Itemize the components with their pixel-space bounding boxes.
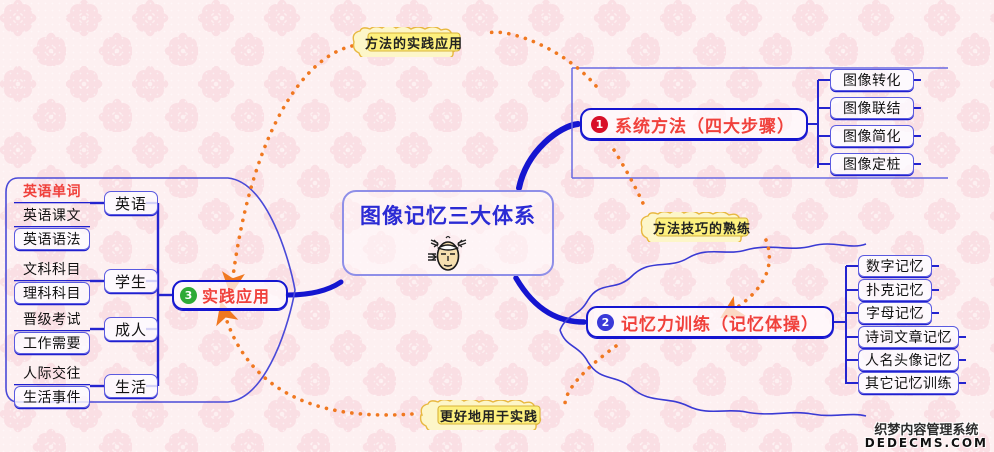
mindmap-canvas: 图像记忆三大体系 1 系统方法（四大步骤） 图像转化 图像联结 bbox=[0, 0, 994, 452]
branch-3-label: 实践应用 bbox=[202, 283, 270, 307]
watermark-line-1: 织梦内容管理系统 bbox=[865, 424, 988, 438]
branch-1-badge: 1 bbox=[591, 116, 608, 133]
leaf-node[interactable]: 英语单词 bbox=[14, 180, 90, 202]
leaf-node[interactable]: 人际交往 bbox=[14, 362, 90, 384]
leaf-node[interactable]: 文科科目 bbox=[14, 258, 90, 280]
watermark-line-2: DEDECMS.COM bbox=[865, 437, 988, 450]
branch-3-node[interactable]: 3 实践应用 bbox=[172, 280, 288, 310]
branch-1-label: 系统方法（四大步骤） bbox=[615, 112, 795, 137]
leaf-node[interactable]: 图像转化 bbox=[830, 69, 914, 91]
branch-2-label: 记忆力训练（记忆体操） bbox=[621, 310, 819, 335]
leaf-node[interactable]: 晋级考试 bbox=[14, 308, 90, 330]
leaf-node[interactable]: 数字记忆 bbox=[858, 255, 932, 277]
leaf-node[interactable]: 字母记忆 bbox=[858, 302, 932, 324]
leaf-node[interactable]: 人名头像记忆 bbox=[858, 349, 959, 371]
thinking-head-icon bbox=[424, 232, 472, 274]
category-node-student[interactable]: 学生 bbox=[104, 269, 158, 293]
leaf-node[interactable]: 扑克记忆 bbox=[858, 279, 932, 301]
branch-3-badge: 3 bbox=[180, 287, 197, 304]
branch-1-node[interactable]: 1 系统方法（四大步骤） bbox=[580, 108, 808, 140]
callout-top[interactable]: 方法的实践应用 bbox=[346, 27, 482, 57]
callout-middle[interactable]: 方法技巧的熟练 bbox=[634, 212, 770, 242]
page-title: 图像记忆三大体系 bbox=[344, 200, 552, 230]
branch-2-badge: 2 bbox=[597, 314, 614, 331]
category-node-english[interactable]: 英语 bbox=[104, 191, 158, 215]
callout-label: 方法的实践应用 bbox=[346, 27, 482, 57]
leaf-node[interactable]: 诗词文章记忆 bbox=[858, 326, 959, 348]
root-node[interactable]: 图像记忆三大体系 bbox=[342, 190, 554, 276]
leaf-node[interactable]: 图像联结 bbox=[830, 97, 914, 119]
callout-label: 更好地用于实践 bbox=[414, 400, 564, 430]
leaf-node[interactable]: 图像简化 bbox=[830, 125, 914, 147]
leaf-node[interactable]: 英语课文 bbox=[14, 204, 90, 226]
branch-2-node[interactable]: 2 记忆力训练（记忆体操） bbox=[586, 306, 834, 338]
leaf-node[interactable]: 其它记忆训练 bbox=[858, 372, 959, 394]
leaf-node[interactable]: 图像定桩 bbox=[830, 153, 914, 175]
leaf-node[interactable]: 理科科目 bbox=[14, 282, 90, 304]
watermark: 织梦内容管理系统 DEDECMS.COM bbox=[865, 424, 988, 450]
callout-bottom[interactable]: 更好地用于实践 bbox=[414, 400, 564, 430]
category-node-life[interactable]: 生活 bbox=[104, 374, 158, 398]
leaf-node[interactable]: 英语语法 bbox=[14, 228, 90, 250]
leaf-node[interactable]: 工作需要 bbox=[14, 332, 90, 354]
leaf-node[interactable]: 生活事件 bbox=[14, 386, 90, 408]
category-node-adult[interactable]: 成人 bbox=[104, 317, 158, 341]
callout-label: 方法技巧的熟练 bbox=[634, 212, 770, 242]
